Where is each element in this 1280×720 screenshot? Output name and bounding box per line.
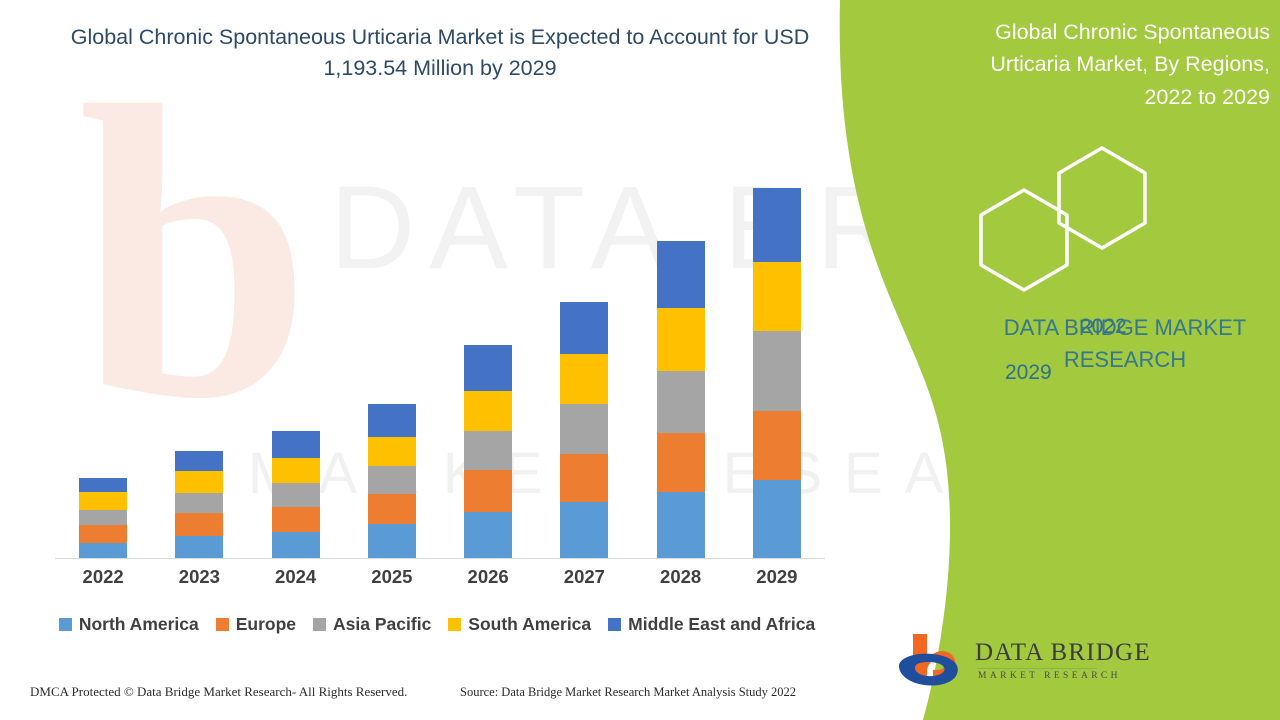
- bar-slot: [729, 160, 825, 558]
- bar-segment: [464, 470, 512, 512]
- bar-segment: [272, 431, 320, 458]
- bar-segment: [79, 510, 127, 525]
- plot-area: [55, 160, 825, 559]
- chart-legend: North AmericaEuropeAsia PacificSouth Ame…: [42, 614, 832, 635]
- bar-segment: [272, 458, 320, 484]
- bar-segment: [464, 512, 512, 558]
- stacked-bar-2028: [657, 241, 705, 558]
- bar-segment: [657, 371, 705, 433]
- x-axis-labels: 20222023202420252026202720282029: [55, 566, 825, 588]
- legend-label: Europe: [236, 614, 296, 635]
- x-axis-label-2024: 2024: [248, 566, 344, 588]
- bar-slot: [536, 160, 632, 558]
- legend-label: Asia Pacific: [333, 614, 431, 635]
- hexagon-2022: [1059, 148, 1145, 248]
- x-axis-label-2028: 2028: [633, 566, 729, 588]
- legend-swatch-icon: [216, 618, 229, 631]
- legend-label: South America: [468, 614, 591, 635]
- bar-segment: [560, 354, 608, 404]
- x-axis-label-2023: 2023: [151, 566, 247, 588]
- bar-segment: [79, 525, 127, 543]
- legend-item[interactable]: Middle East and Africa: [608, 614, 815, 635]
- stacked-bar-2022: [79, 478, 127, 558]
- legend-swatch-icon: [608, 618, 621, 631]
- stacked-bar-2027: [560, 302, 608, 558]
- footer-source: Source: Data Bridge Market Research Mark…: [460, 685, 796, 700]
- legend-swatch-icon: [313, 618, 326, 631]
- stacked-bar-2029: [753, 188, 801, 558]
- bar-segment: [175, 513, 223, 536]
- stacked-bar-2026: [464, 345, 512, 558]
- panel-title: Global Chronic Spontaneous Urticaria Mar…: [940, 16, 1270, 113]
- logo-divider: [977, 668, 1097, 669]
- bar-segment: [560, 302, 608, 354]
- hexagon-2029: [981, 190, 1067, 290]
- x-axis-label-2022: 2022: [55, 566, 151, 588]
- bar-segment: [753, 188, 801, 262]
- bar-segment: [657, 433, 705, 493]
- bar-segment: [79, 543, 127, 558]
- bar-segment: [272, 507, 320, 532]
- x-axis-label-2027: 2027: [536, 566, 632, 588]
- x-axis-label-2025: 2025: [344, 566, 440, 588]
- bar-segment: [560, 454, 608, 503]
- bar-segment: [272, 532, 320, 558]
- legend-swatch-icon: [448, 618, 461, 631]
- bar-segment: [753, 262, 801, 332]
- bar-segment: [464, 391, 512, 431]
- legend-item[interactable]: North America: [59, 614, 199, 635]
- logo-tagline: MARKET RESEARCH: [978, 671, 1121, 681]
- stacked-bar-2025: [368, 404, 416, 558]
- hexagon-group: 2022 2029: [962, 140, 1172, 300]
- stacked-bar-2024: [272, 431, 320, 558]
- bar-slot: [633, 160, 729, 558]
- chart-title: Global Chronic Spontaneous Urticaria Mar…: [60, 22, 820, 84]
- brand-name: DATA BRIDGE MARKET RESEARCH: [960, 312, 1280, 376]
- brand-line-1: DATA BRIDGE MARKET: [960, 312, 1280, 344]
- footer-copyright: DMCA Protected © Data Bridge Market Rese…: [30, 684, 407, 700]
- bar-group: [55, 160, 825, 558]
- bar-segment: [753, 331, 801, 411]
- logo-wordmark: DATA BRIDGE: [975, 639, 1151, 667]
- bar-segment: [368, 466, 416, 494]
- bar-segment: [464, 345, 512, 391]
- bar-segment: [560, 502, 608, 558]
- bar-segment: [753, 480, 801, 558]
- x-axis-label-2026: 2026: [440, 566, 536, 588]
- x-axis-label-2029: 2029: [729, 566, 825, 588]
- bar-segment: [368, 437, 416, 467]
- bar-segment: [368, 404, 416, 437]
- bar-slot: [55, 160, 151, 558]
- stacked-bar-2023: [175, 451, 223, 558]
- hexagon-shapes: [962, 140, 1172, 300]
- bar-segment: [368, 524, 416, 558]
- bar-slot: [248, 160, 344, 558]
- bar-segment: [175, 536, 223, 558]
- bar-slot: [344, 160, 440, 558]
- brand-line-2: RESEARCH: [960, 344, 1280, 376]
- bar-segment: [657, 308, 705, 371]
- bar-segment: [175, 451, 223, 472]
- chart-infographic: b DATA BRIDGE MARKET RESEARCH Global Chr…: [0, 0, 1280, 720]
- bar-slot: [151, 160, 247, 558]
- bar-segment: [753, 411, 801, 481]
- bar-segment: [175, 471, 223, 493]
- legend-label: Middle East and Africa: [628, 614, 815, 635]
- x-axis-line: [55, 558, 825, 559]
- legend-swatch-icon: [59, 618, 72, 631]
- legend-item[interactable]: Europe: [216, 614, 296, 635]
- bar-segment: [79, 478, 127, 492]
- legend-label: North America: [79, 614, 199, 635]
- legend-item[interactable]: South America: [448, 614, 591, 635]
- bar-segment: [657, 241, 705, 309]
- bar-segment: [464, 431, 512, 471]
- bar-segment: [368, 494, 416, 524]
- bar-segment: [560, 404, 608, 454]
- bar-segment: [272, 483, 320, 507]
- bar-segment: [657, 492, 705, 558]
- bar-segment: [79, 492, 127, 510]
- legend-item[interactable]: Asia Pacific: [313, 614, 431, 635]
- bar-segment: [175, 493, 223, 513]
- bar-slot: [440, 160, 536, 558]
